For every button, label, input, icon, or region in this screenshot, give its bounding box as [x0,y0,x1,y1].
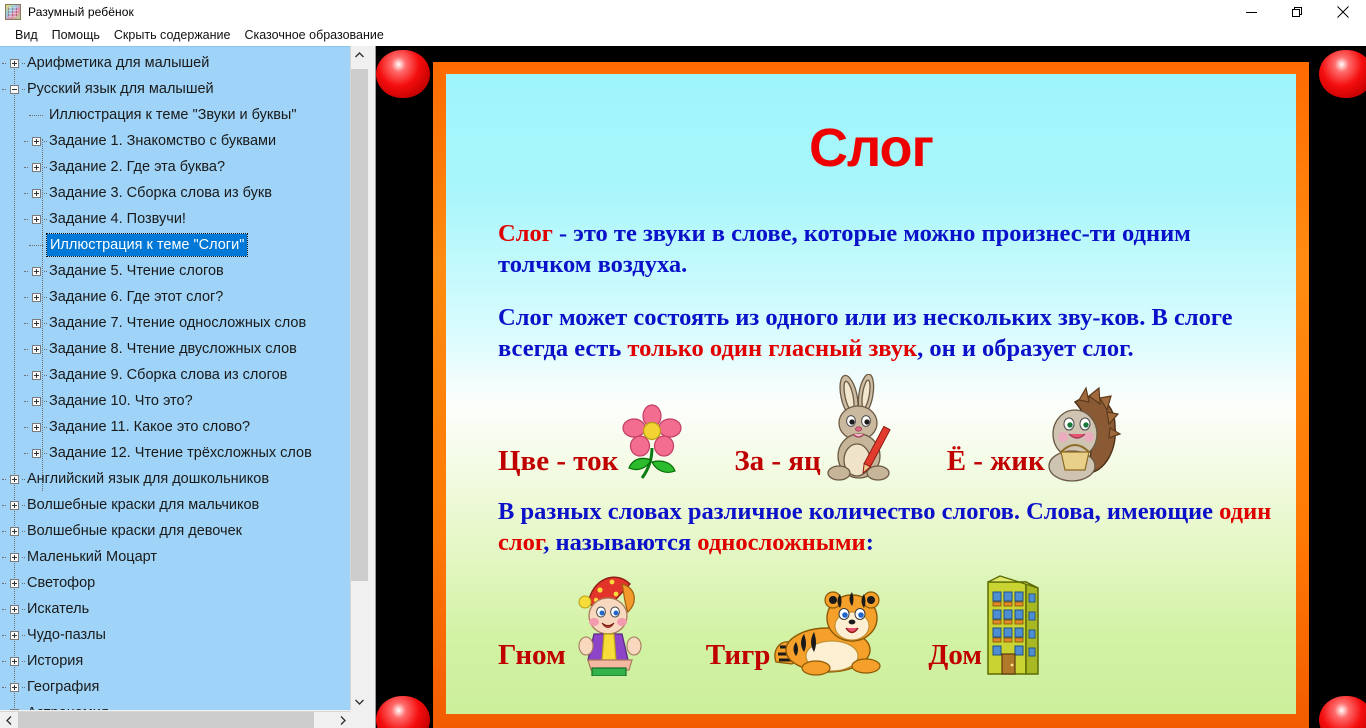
minimize-icon[interactable] [1228,0,1274,24]
scroll-down-icon[interactable] [351,693,368,710]
tree-item[interactable]: Арифметика для малышей [0,50,351,76]
tree-item-label: Задание 4. Позвучи! [47,209,188,229]
example-word-hedgehog: Ё - жик [947,445,1045,482]
tree-item[interactable]: Задание 1. Знакомство с буквами [0,128,351,154]
example-house: Дом [928,570,1044,676]
tiger-art-icon [770,584,888,676]
expand-plus-icon[interactable] [28,367,44,383]
expander-box [10,59,19,68]
expander-box [32,163,41,172]
flower-art-icon [618,404,688,482]
app-icon [5,4,21,20]
expand-plus-icon[interactable] [28,393,44,409]
tree-item-label: Иллюстрация к теме "Слоги" [47,234,247,256]
expander-box [10,579,19,588]
tree-item-list: Арифметика для малышейРусский язык для м… [0,47,351,710]
expand-plus-icon[interactable] [28,289,44,305]
slide-canvas: Слог Слог - это те звуки в слове, которы… [446,74,1296,714]
paragraph-3-part2: , называются [543,529,697,556]
slide-title: Слог [446,120,1296,176]
example-word-house: Дом [928,639,982,676]
close-icon[interactable] [1320,0,1366,24]
tree-item[interactable]: Задание 7. Чтение односложных слов [0,310,351,336]
expander-box [10,709,19,711]
ball-bottom-right-icon [1319,696,1366,728]
tree-item-label: Задание 2. Где эта буква? [47,157,227,177]
expander-box [32,293,41,302]
expander-box [32,371,41,380]
tree-item-label: Волшебные краски для мальчиков [25,495,261,515]
expand-plus-icon[interactable] [6,627,22,643]
tree-hscroll-thumb[interactable] [18,712,314,728]
tree-item-label: Иллюстрация к теме "Звуки и буквы" [47,105,299,125]
examples-row-monosyllables: Гном [446,568,1296,676]
paragraph-3-highlight-2: односложными [697,529,865,556]
menu-bar: Вид Помощь Скрыть содержание Сказочное о… [0,24,1366,46]
tree-item-label: Светофор [25,573,97,593]
tree-item-label: Задание 6. Где этот слог? [47,287,225,307]
window-controls [1228,0,1366,24]
paragraph-2-highlight: только один гласный звук [627,335,917,362]
expander-box [32,397,41,406]
expand-plus-icon[interactable] [28,419,44,435]
tree-item-label: Чудо-пазлы [25,625,108,645]
tree-item-label: Английский язык для дошкольников [25,469,271,489]
example-hedgehog: Ё - жик [947,382,1123,482]
expand-plus-icon[interactable] [6,653,22,669]
restore-icon[interactable] [1274,0,1320,24]
tree-vertical-scrollbar[interactable] [350,46,367,710]
tree-item[interactable]: Маленький Моцарт [0,544,351,570]
expander-box [32,267,41,276]
expander-box [10,683,19,692]
tree-item[interactable]: Задание 10. Что это? [0,388,351,414]
example-tiger: Тигр [706,584,889,676]
collapse-minus-icon[interactable] [6,81,22,97]
expand-plus-icon[interactable] [6,575,22,591]
paragraph-1-rest: - это те звуки в слове, которые можно пр… [498,220,1191,278]
slide-paragraph-1: Слог - это те звуки в слове, которые мож… [446,218,1296,280]
tree-item-label: Задание 9. Сборка слова из слогов [47,365,289,385]
tree-item-label: География [25,677,101,697]
tree-item[interactable]: Волшебные краски для мальчиков [0,492,351,518]
tree-item[interactable]: Иллюстрация к теме "Слоги" [0,232,351,258]
expander-box [10,501,19,510]
gnome-art-icon [566,568,654,676]
expander-box [10,605,19,614]
tree-item[interactable]: Задание 4. Позвучи! [0,206,351,232]
tree-item-label: Задание 1. Знакомство с буквами [47,131,278,151]
expand-plus-icon[interactable] [28,341,44,357]
tree-item-label: Задание 11. Какое это слово? [47,417,252,437]
paragraph-3-part3: : [866,529,874,556]
expander-box [10,657,19,666]
ball-bottom-left-icon [376,696,430,728]
hedgehog-art-icon [1045,382,1123,482]
tree-item[interactable]: Английский язык для дошкольников [0,466,351,492]
paragraph-2-part2: , он и образует слог. [917,335,1134,362]
example-word-tiger: Тигр [706,639,771,676]
expander-box [10,631,19,640]
tree-item[interactable]: Астрономия [0,700,351,710]
expand-plus-icon[interactable] [28,315,44,331]
expander-box [32,215,41,224]
expand-plus-icon[interactable] [28,445,44,461]
tree-leaf-connector-icon [28,107,44,123]
expander-box [10,553,19,562]
expand-plus-icon[interactable] [28,133,44,149]
example-word-gnome: Гном [498,639,566,676]
example-flower: Цве - ток [498,404,688,482]
tree-item-label: История [25,651,85,671]
expander-box [10,527,19,536]
tree-item[interactable]: Русский язык для малышей [0,76,351,102]
tree-item[interactable]: Искатель [0,596,351,622]
tree-item[interactable]: Задание 8. Чтение двусложных слов [0,336,351,362]
title-bar: Разумный ребёнок [0,0,1366,24]
menu-item-help[interactable]: Помощь [45,25,107,46]
expand-plus-icon[interactable] [6,523,22,539]
expander-box [32,189,41,198]
expand-plus-icon[interactable] [6,705,22,710]
tree-item-label: Арифметика для малышей [25,53,211,73]
tree-item[interactable]: География [0,674,351,700]
expand-plus-icon[interactable] [6,497,22,513]
expander-box [10,475,19,484]
ball-top-right-icon [1319,50,1366,98]
expand-plus-icon[interactable] [6,601,22,617]
expand-plus-icon[interactable] [28,159,44,175]
contents-tree-panel: Арифметика для малышейРусский язык для м… [0,46,376,728]
tree-vscroll-thumb[interactable] [351,69,368,581]
tree-item[interactable]: Задание 12. Чтение трёхсложных слов [0,440,351,466]
expander-box [32,449,41,458]
tree-item[interactable]: Чудо-пазлы [0,622,351,648]
tree-item[interactable]: Задание 2. Где эта буква? [0,154,351,180]
slide-stage: Слог Слог - это те звуки в слове, которы… [376,46,1366,728]
expand-plus-icon[interactable] [6,549,22,565]
tree-item-label: Маленький Моцарт [25,547,159,567]
menu-item-view[interactable]: Вид [8,25,45,46]
rabbit-art-icon [821,374,901,482]
house-art-icon [982,570,1044,676]
scrollbar-corner [350,711,367,728]
window-title: Разумный ребёнок [28,5,134,19]
tree-item[interactable]: История [0,648,351,674]
expander-box [10,85,19,94]
tree-horizontal-scrollbar[interactable] [0,711,351,728]
slide-frame: Слог Слог - это те звуки в слове, которы… [433,62,1309,728]
tree-item-label: Задание 10. Что это? [47,391,195,411]
tree-leaf-connector-icon [28,237,44,253]
expander-box [32,345,41,354]
tree-item[interactable]: Задание 9. Сборка слова из слогов [0,362,351,388]
expand-plus-icon[interactable] [6,471,22,487]
tree-item-label: Волшебные краски для девочек [25,521,244,541]
tree-item[interactable]: Задание 5. Чтение слогов [0,258,351,284]
examples-row-syllables: Цве - ток [446,374,1296,482]
tree-item-label: Задание 3. Сборка слова из букв [47,183,274,203]
expand-plus-icon[interactable] [6,679,22,695]
example-word-rabbit: За - яц [734,445,820,482]
tree-item[interactable]: Волшебные краски для девочек [0,518,351,544]
content-area: Арифметика для малышейРусский язык для м… [0,46,1366,728]
tree-item-label: Русский язык для малышей [25,79,216,99]
scroll-left-icon[interactable] [0,712,17,728]
paragraph-3-part1: В разных словах различное количество сло… [498,498,1219,525]
slide-paragraph-2: Слог может состоять из одного или из нес… [446,302,1296,364]
expander-box [32,423,41,432]
expander-box [32,137,41,146]
example-gnome: Гном [498,568,654,676]
expander-box [32,319,41,328]
contents-tree: Арифметика для малышейРусский язык для м… [0,46,351,710]
expand-plus-icon[interactable] [28,211,44,227]
tree-item[interactable]: Иллюстрация к теме "Звуки и буквы" [0,102,351,128]
tree-item-label: Астрономия [25,703,111,710]
expand-plus-icon[interactable] [6,55,22,71]
tree-item[interactable]: Светофор [0,570,351,596]
tree-item-label: Искатель [25,599,91,619]
scroll-right-icon[interactable] [334,712,351,728]
tree-item-label: Задание 5. Чтение слогов [47,261,226,281]
expand-plus-icon[interactable] [28,185,44,201]
paragraph-1-lead: Слог [498,220,553,247]
tree-item-label: Задание 12. Чтение трёхсложных слов [47,443,314,463]
ball-top-left-icon [376,50,430,98]
example-rabbit: За - яц [734,374,900,482]
tree-item[interactable]: Задание 3. Сборка слова из букв [0,180,351,206]
slide-paragraph-3: В разных словах различное количество сло… [446,496,1296,558]
example-word-flower: Цве - ток [498,445,618,482]
scroll-up-icon[interactable] [351,46,368,63]
tree-item-label: Задание 8. Чтение двусложных слов [47,339,299,359]
tree-item-label: Задание 7. Чтение односложных слов [47,313,308,333]
menu-item-fairy-education[interactable]: Сказочное образование [237,25,390,46]
expand-plus-icon[interactable] [28,263,44,279]
tree-item[interactable]: Задание 6. Где этот слог? [0,284,351,310]
tree-item[interactable]: Задание 11. Какое это слово? [0,414,351,440]
application-window: Разумный ребёнок Вид Помощь Скрыть со [0,0,1366,728]
menu-item-hide-contents[interactable]: Скрыть содержание [107,25,238,46]
